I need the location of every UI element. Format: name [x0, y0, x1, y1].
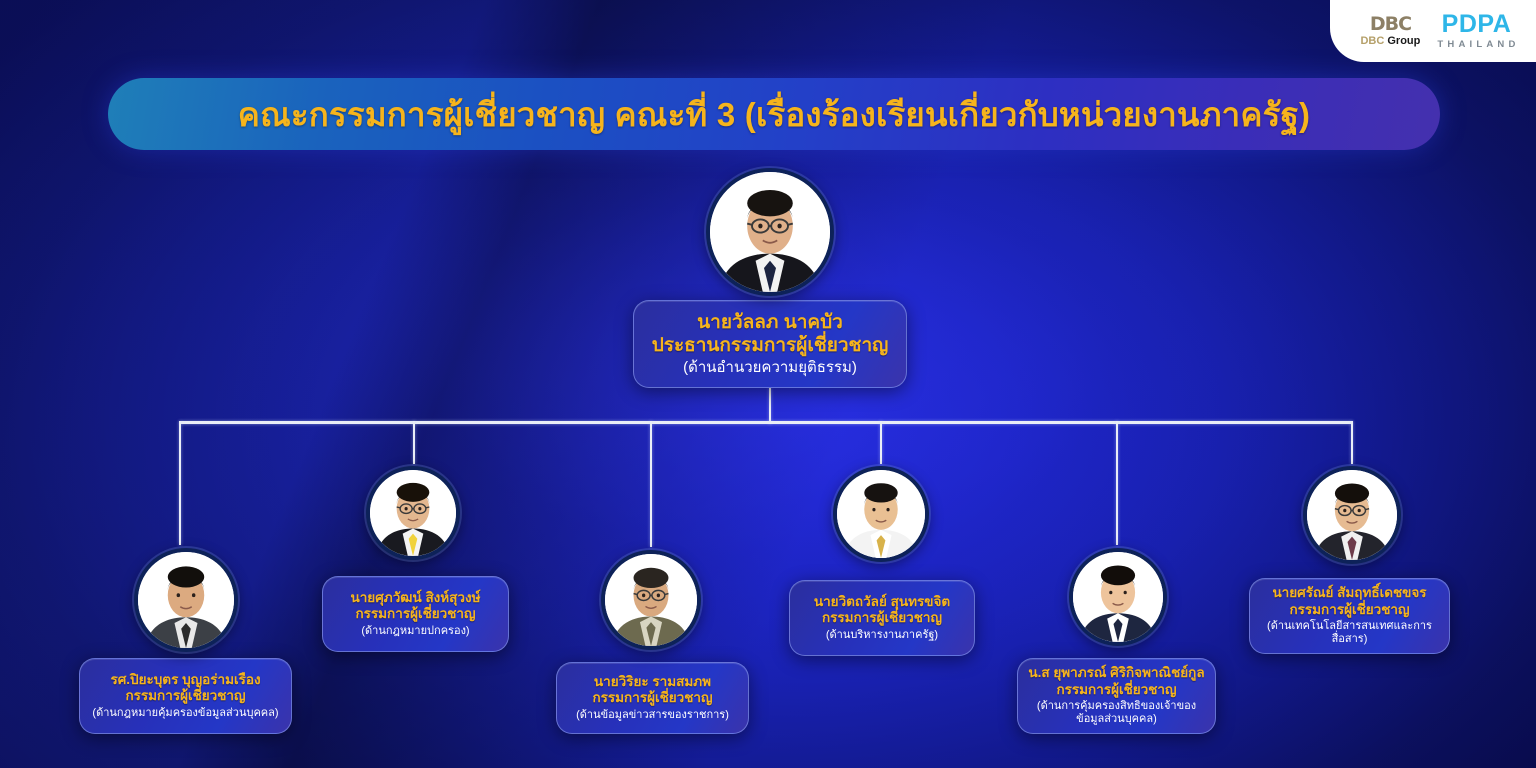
- connector-drop-1: [179, 421, 182, 545]
- pdpa-thailand-logo: PDPA THAILAND: [1433, 12, 1519, 50]
- member-avatar-4: [833, 466, 929, 562]
- dbc-group-label: DBC Group: [1360, 36, 1420, 47]
- connector-drop-2: [413, 421, 416, 464]
- member-field-4: (ด้านบริหารงานภาครัฐ): [826, 629, 938, 642]
- dbc-group-label-dark: Group: [1384, 35, 1420, 47]
- member-role-5: กรรมการผู้เชี่ยวชาญ: [1056, 682, 1176, 698]
- member-card-3[interactable]: นายวิริยะ รามสมภพกรรมการผู้เชี่ยวชาญ(ด้า…: [556, 662, 749, 734]
- chairman-card[interactable]: นายวัลลภ นาคบัวประธานกรรมการผู้เชี่ยวชาญ…: [633, 300, 907, 388]
- member-name-1: รศ.ปิยะบุตร บุญอร่ามเรือง: [110, 672, 260, 688]
- dbc-mark-icon: DBC: [1370, 15, 1411, 34]
- connector-drop-4: [880, 421, 883, 464]
- member-field-1: (ด้านกฎหมายคุ้มครองข้อมูลส่วนบุคคล): [92, 707, 278, 720]
- brand-logo-plate: DBC DBC Group PDPA THAILAND: [1330, 0, 1536, 62]
- page-title-banner: คณะกรรมการผู้เชี่ยวชาญ คณะที่ 3 (เรื่องร…: [108, 78, 1440, 150]
- member-avatar-2: [366, 466, 460, 560]
- member-role-4: กรรมการผู้เชี่ยวชาญ: [822, 610, 942, 626]
- member-role-6: กรรมการผู้เชี่ยวชาญ: [1289, 602, 1409, 618]
- connector-drop-6: [1351, 421, 1354, 464]
- chairman-role: ประธานกรรมการผู้เชี่ยวชาญ: [652, 334, 889, 357]
- member-name-5: น.ส ยุพาภรณ์ ศิริกิจพาณิชย์กูล: [1028, 665, 1204, 681]
- chairman-field: (ด้านอำนวยความยุติธรรม): [683, 359, 857, 377]
- connector-drop-3: [650, 421, 653, 547]
- member-role-2: กรรมการผู้เชี่ยวชาญ: [355, 606, 475, 622]
- member-field-5: (ด้านการคุ้มครองสิทธิของเจ้าของ ข้อมูลส่…: [1028, 700, 1205, 726]
- member-name-2: นายศุภวัฒน์ สิงห์สุวงษ์: [351, 590, 481, 606]
- org-chart-canvas: DBC DBC Group PDPA THAILAND คณะกรรมการผู…: [0, 0, 1536, 768]
- pdpa-country-label: THAILAND: [1433, 40, 1519, 50]
- dbc-group-label-gold: DBC: [1360, 35, 1384, 47]
- member-name-6: นายศรัณย์ สัมฤทธิ์เดชขจร: [1272, 585, 1426, 601]
- chairman-avatar: [706, 168, 834, 296]
- member-card-6[interactable]: นายศรัณย์ สัมฤทธิ์เดชขจรกรรมการผู้เชี่ยว…: [1249, 578, 1450, 654]
- member-card-4[interactable]: นายวิตถวัลย์ สุนทรขจิตกรรมการผู้เชี่ยวชา…: [789, 580, 975, 656]
- pdpa-wordmark: PDPA: [1442, 12, 1512, 37]
- dbc-group-logo: DBC DBC Group: [1360, 15, 1420, 47]
- member-field-2: (ด้านกฎหมายปกครอง): [361, 625, 469, 638]
- member-card-2[interactable]: นายศุภวัฒน์ สิงห์สุวงษ์กรรมการผู้เชี่ยวช…: [322, 576, 509, 652]
- member-avatar-3: [601, 550, 701, 650]
- chairman-name: นายวัลลภ นาคบัว: [697, 311, 843, 334]
- page-title: คณะกรรมการผู้เชี่ยวชาญ คณะที่ 3 (เรื่องร…: [238, 88, 1310, 141]
- connector-drop-5: [1116, 421, 1119, 545]
- member-role-3: กรรมการผู้เชี่ยวชาญ: [592, 690, 712, 706]
- member-avatar-5: [1069, 548, 1167, 646]
- member-name-4: นายวิตถวัลย์ สุนทรขจิต: [814, 594, 950, 610]
- member-avatar-6: [1303, 466, 1401, 564]
- connector-horizontal-bus: [180, 421, 1352, 424]
- member-card-5[interactable]: น.ส ยุพาภรณ์ ศิริกิจพาณิชย์กูลกรรมการผู้…: [1017, 658, 1216, 734]
- member-field-3: (ด้านข้อมูลข่าวสารของราชการ): [576, 709, 729, 722]
- member-card-1[interactable]: รศ.ปิยะบุตร บุญอร่ามเรืองกรรมการผู้เชี่ย…: [79, 658, 292, 734]
- member-role-1: กรรมการผู้เชี่ยวชาญ: [125, 688, 245, 704]
- connector-chair-stem: [769, 388, 772, 424]
- member-name-3: นายวิริยะ รามสมภพ: [594, 674, 711, 690]
- member-field-6: (ด้านเทคโนโลยีสารสนเทศและการสื่อสาร): [1260, 620, 1439, 646]
- member-avatar-1: [134, 548, 238, 652]
